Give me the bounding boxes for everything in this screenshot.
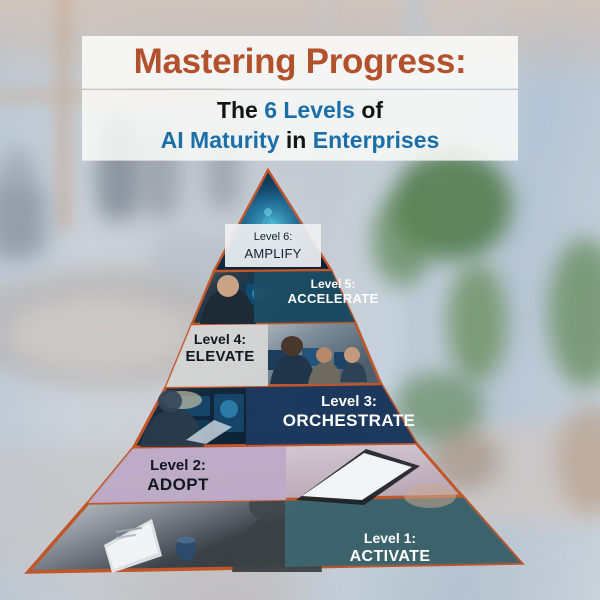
level-6-name: AMPLIFY [244,246,301,261]
level-6-number: Level 6: [254,231,293,243]
pyramid-level-5[interactable] [192,270,355,324]
subtitle-banner: The 6 Levels of AI Maturity in Enterpris… [82,90,518,160]
pyramid-level-3[interactable] [134,384,416,447]
pyramid-level-4[interactable] [166,322,381,387]
page-title: Mastering Progress: [134,42,467,82]
subtitle-line-2: AI Maturity in Enterprises [161,126,440,154]
infographic-canvas: Level 6: AMPLIFY Level 5: ACCELERATE Lev… [0,0,600,600]
level-6-label[interactable]: Level 6: AMPLIFY [225,224,321,267]
subtitle-line-1: The 6 Levels of [217,96,383,124]
main-title-banner: Mastering Progress: [82,36,518,88]
